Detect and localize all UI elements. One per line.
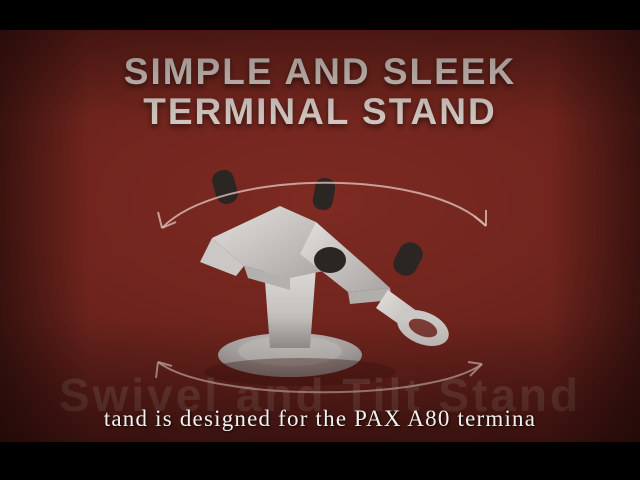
headline-line-1: SIMPLE AND SLEEK (0, 52, 640, 92)
rotation-arrows (130, 150, 510, 400)
headline-line-2: TERMINAL STAND (0, 92, 640, 132)
video-frame: SIMPLE AND SLEEK TERMINAL STAND Swivel a… (0, 0, 640, 480)
video-content: SIMPLE AND SLEEK TERMINAL STAND Swivel a… (0, 30, 640, 442)
letterbox-bottom (0, 442, 640, 480)
headline: SIMPLE AND SLEEK TERMINAL STAND (0, 52, 640, 132)
subtitle-text: tand is designed for the PAX A80 termina (0, 406, 640, 432)
letterbox-top (0, 0, 640, 30)
